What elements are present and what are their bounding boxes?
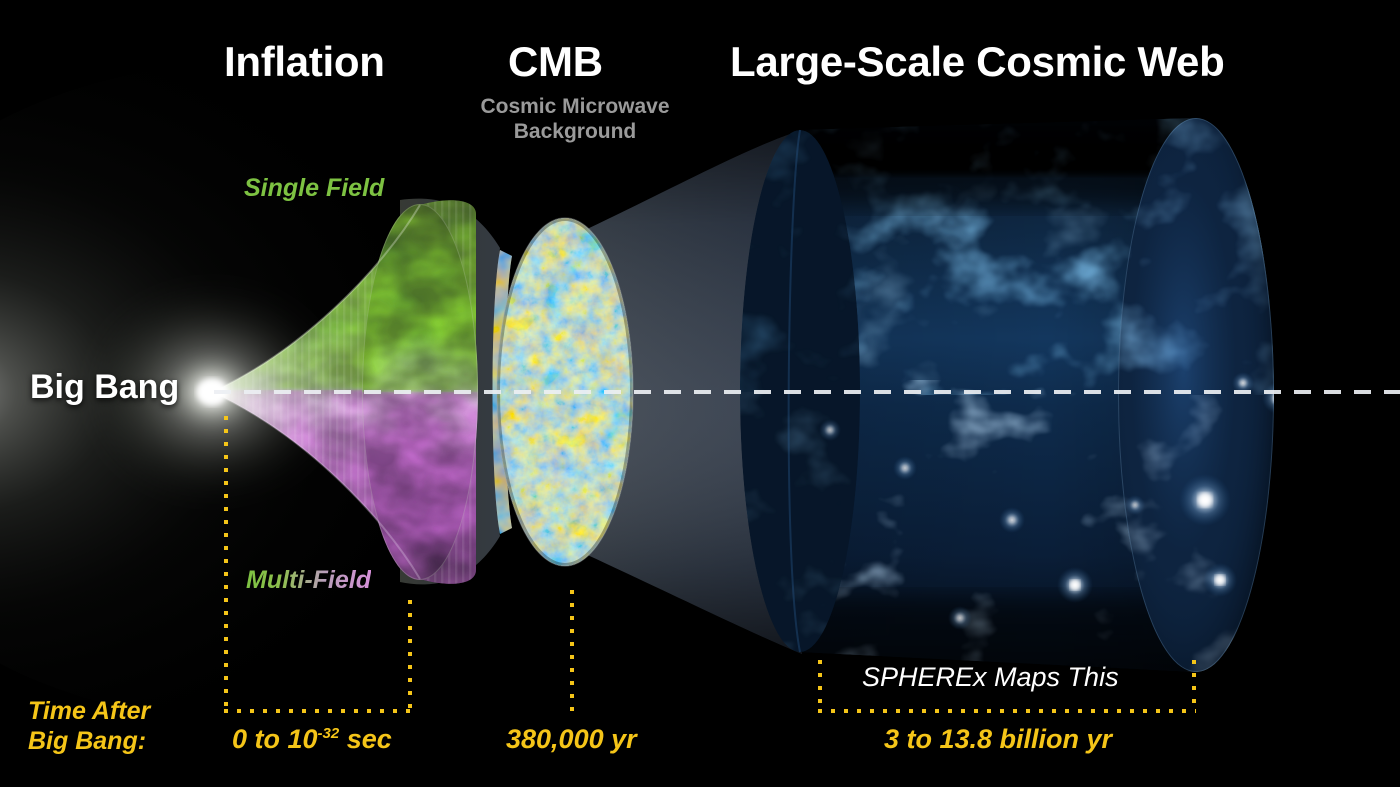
bracket-inflation-bottom bbox=[224, 709, 412, 713]
bracket-inflation-left bbox=[224, 416, 228, 712]
timeline-axis bbox=[214, 390, 1400, 394]
label-spherex-maps-this: SPHEREx Maps This bbox=[862, 662, 1119, 693]
infographic-canvas: Inflation CMB Cosmic Microwave Backgroun… bbox=[0, 0, 1400, 787]
timeline-value-cosmic-web: 3 to 13.8 billion yr bbox=[884, 724, 1112, 755]
subheader-cmb-line1: Cosmic Microwave bbox=[480, 95, 669, 118]
bracket-cmb-line bbox=[570, 590, 574, 712]
header-cmb: CMB bbox=[508, 38, 603, 86]
timeline-title-line1: Time After bbox=[28, 697, 150, 725]
timeline-inflation-exponent: -32 bbox=[318, 725, 340, 742]
timeline-title: Time After Big Bang: bbox=[28, 696, 208, 756]
subheader-cmb-line2: Background bbox=[514, 120, 637, 143]
bracket-web-left bbox=[818, 660, 822, 712]
bracket-web-bottom bbox=[818, 709, 1196, 713]
bracket-inflation-right bbox=[408, 600, 412, 712]
header-inflation: Inflation bbox=[224, 38, 385, 86]
subheader-cmb: Cosmic Microwave Background bbox=[432, 94, 718, 144]
timeline-inflation-suffix: sec bbox=[339, 724, 392, 754]
label-single-field: Single Field bbox=[244, 174, 384, 203]
header-cosmic-web: Large-Scale Cosmic Web bbox=[730, 38, 1224, 86]
timeline-value-inflation: 0 to 10-32 sec bbox=[232, 724, 392, 755]
cosmic-web-cylinder bbox=[736, 110, 1294, 686]
timeline-title-line2: Big Bang: bbox=[28, 727, 146, 755]
timeline-value-cmb: 380,000 yr bbox=[506, 724, 637, 755]
label-big-bang: Big Bang bbox=[30, 368, 179, 407]
label-multi-field: Multi-Field bbox=[246, 566, 371, 595]
timeline-inflation-prefix: 0 to 10 bbox=[232, 724, 318, 754]
bracket-web-right bbox=[1192, 660, 1196, 712]
